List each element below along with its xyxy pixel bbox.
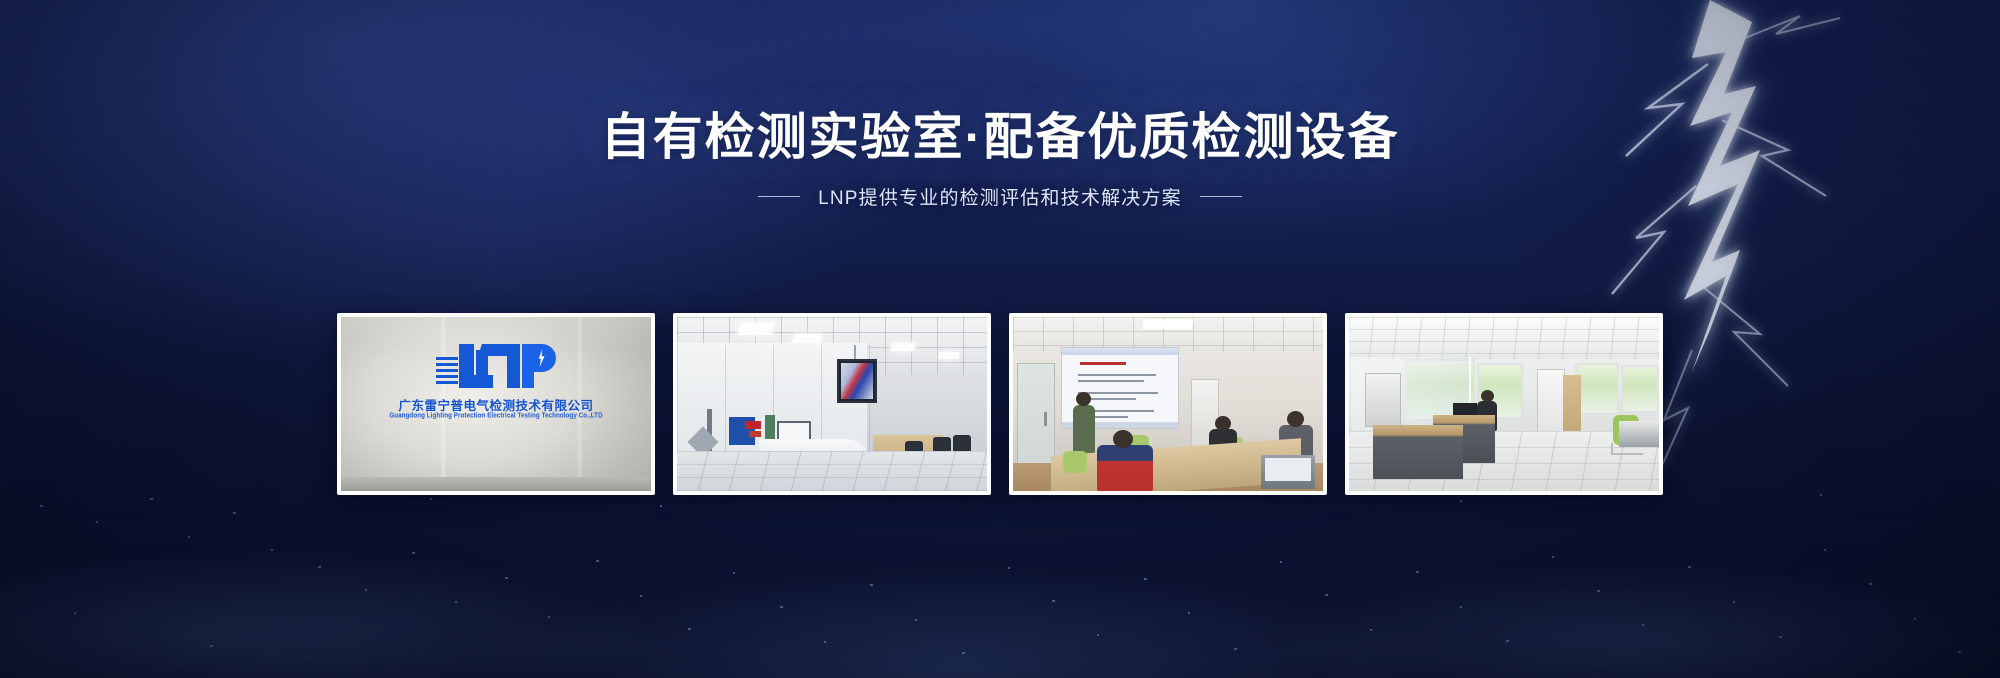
gallery-photo-office-workspace[interactable] xyxy=(1345,313,1663,495)
tiled-floor xyxy=(677,451,987,491)
office-desk xyxy=(1373,425,1463,479)
lnp-logo-icon xyxy=(436,344,556,388)
laboratory-image xyxy=(677,317,987,491)
wall-display-screen xyxy=(837,359,877,403)
subtitle-row: LNP提供专业的检测评估和技术解决方案 xyxy=(0,183,2000,210)
window xyxy=(1575,363,1619,415)
rule-right-icon xyxy=(1200,196,1242,197)
signage-english-name: Guangdong Lighting Protection Electrical… xyxy=(341,411,651,420)
window xyxy=(1621,365,1659,413)
laptop xyxy=(1261,455,1315,489)
lab-equipment xyxy=(1365,373,1401,427)
gallery-photo-testing-laboratory-hall[interactable] xyxy=(673,313,991,495)
green-chair xyxy=(1063,451,1087,473)
logo-letter-l xyxy=(459,344,474,388)
rule-left-icon xyxy=(758,196,800,197)
ceiling-light xyxy=(1142,319,1194,329)
ceiling-light xyxy=(890,343,916,351)
ceiling-grid xyxy=(1349,317,1659,359)
photo-gallery: 广东雷宁普电气检测技术有限公司 Guangdong Lighting Prote… xyxy=(337,313,1663,495)
reception-counter xyxy=(1619,421,1659,447)
page-title: 自有检测实验室·配备优质检测设备 xyxy=(0,108,2000,167)
signage-wall-image: 广东雷宁普电气检测技术有限公司 Guangdong Lighting Prote… xyxy=(341,317,651,491)
wall-base xyxy=(341,477,651,491)
ceiling-light xyxy=(737,323,774,335)
gallery-photo-meeting-room-presentation[interactable] xyxy=(1009,313,1327,495)
hero-copy: 自有检测实验室·配备优质检测设备 LNP提供专业的检测评估和技术解决方案 xyxy=(0,108,2000,210)
logo-letter-p xyxy=(522,344,556,388)
ceiling-light xyxy=(938,352,959,359)
logo-bars-icon xyxy=(436,357,458,388)
office-image xyxy=(1349,317,1659,491)
room-door xyxy=(1017,363,1055,475)
meeting-room-image xyxy=(1013,317,1323,491)
attendee xyxy=(1097,445,1153,491)
page-subtitle: LNP提供专业的检测评估和技术解决方案 xyxy=(818,183,1182,210)
hero-banner: 自有检测实验室·配备优质检测设备 LNP提供专业的检测评估和技术解决方案 xyxy=(0,0,2000,678)
logo-letter-n xyxy=(476,344,520,388)
gallery-photo-company-signage-wall[interactable]: 广东雷宁普电气检测技术有限公司 Guangdong Lighting Prote… xyxy=(337,313,655,495)
